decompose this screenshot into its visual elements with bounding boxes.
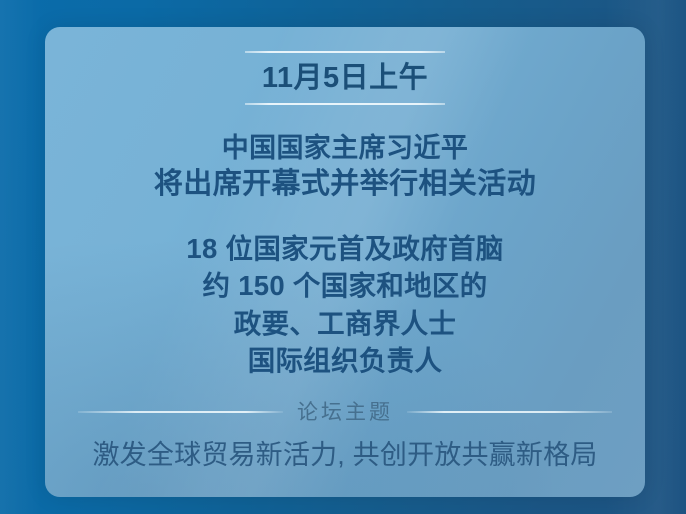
attendee-line: 18 位国家元首及政府首脑 [186, 230, 503, 267]
forum-theme-label-row: 论坛主题 [78, 402, 612, 423]
forum-theme-label: 论坛主题 [297, 402, 393, 423]
content-card: 11月5日上午 中国国家主席习近平 将出席开幕式并举行相关活动 18 位国家元首… [45, 27, 645, 497]
date-headline-block: 11月5日上午 [245, 51, 445, 105]
statement-line-2: 将出席开幕式并举行相关活动 [154, 166, 536, 204]
headline-rule-bottom [245, 103, 445, 105]
attendee-line: 国际组织负责人 [186, 342, 503, 379]
main-statement: 中国国家主席习近平 将出席开幕式并举行相关活动 [154, 131, 536, 204]
attendee-list: 18 位国家元首及政府首脑 约 150 个国家和地区的 政要、工商界人士 国际组… [186, 230, 503, 380]
card-content: 11月5日上午 中国国家主席习近平 将出席开幕式并举行相关活动 18 位国家元首… [45, 27, 645, 497]
attendee-line: 约 150 个国家和地区的 [186, 267, 503, 304]
attendee-line: 政要、工商界人士 [186, 305, 503, 342]
forum-theme-section: 论坛主题 激发全球贸易新活力, 共创开放共赢新格局 [45, 402, 645, 471]
theme-rule-left [78, 411, 283, 413]
forum-theme-slogan: 激发全球贸易新活力, 共创开放共赢新格局 [92, 439, 597, 471]
statement-line-1: 中国国家主席习近平 [154, 131, 536, 166]
date-headline: 11月5日上午 [245, 53, 445, 103]
theme-rule-right [407, 411, 612, 413]
poster-canvas: 11月5日上午 中国国家主席习近平 将出席开幕式并举行相关活动 18 位国家元首… [0, 0, 686, 514]
